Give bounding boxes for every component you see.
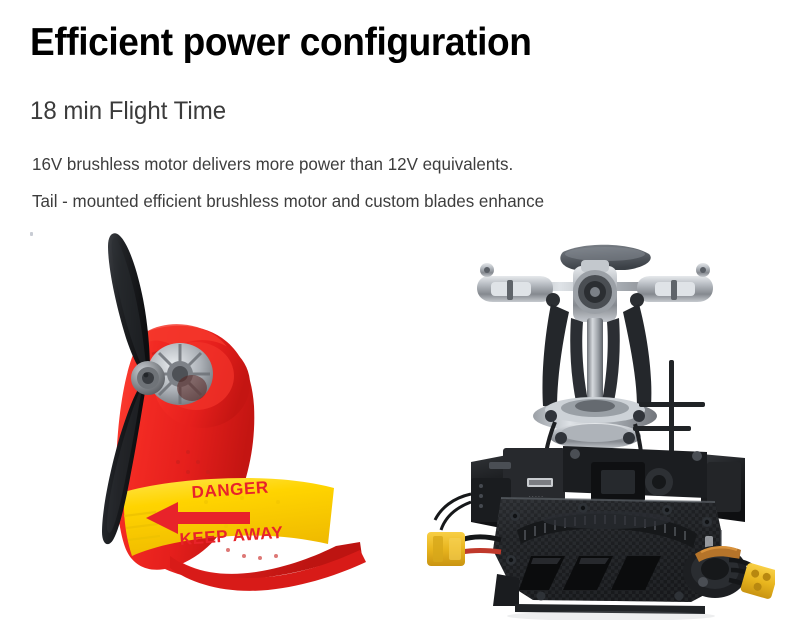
wire-red-left <box>461 551 501 553</box>
rotor-head <box>477 260 713 322</box>
xt60-connector-left <box>427 532 501 566</box>
product-photo-row: DANGER KEEP AWAY <box>0 226 790 624</box>
frame-upper-struts <box>563 446 707 502</box>
helicopter-frame-illustration: · · · · · <box>415 230 775 620</box>
danger-decal-stripe: DANGER KEEP AWAY <box>124 478 334 556</box>
wire-black-left <box>461 537 501 540</box>
carbon-frame-plate <box>493 498 721 602</box>
blade-grip-right <box>637 263 713 302</box>
tail-rotor-illustration: DANGER KEEP AWAY <box>20 226 380 624</box>
blade-grip-left <box>477 263 553 302</box>
page-subtitle: 18 min Flight Time <box>30 96 226 126</box>
body-text-line-2: Tail - mounted efficient brushless motor… <box>32 190 544 212</box>
helicopter-frame-photo: · · · · · <box>415 230 775 620</box>
tail-rotor-photo: DANGER KEEP AWAY <box>20 226 380 624</box>
page-title: Efficient power configuration <box>30 20 532 66</box>
body-text-line-1: 16V brushless motor delivers more power … <box>32 153 513 175</box>
